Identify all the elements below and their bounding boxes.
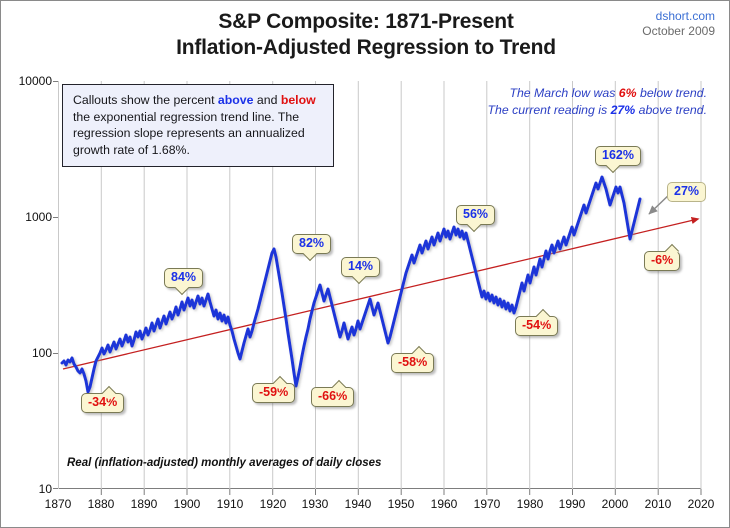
callout-84-percent: 84% <box>164 268 203 288</box>
x-axis-label-1890: 1890 <box>124 497 164 511</box>
callout-14-percent: 14% <box>341 257 380 277</box>
note1-prefix: The March low was <box>509 86 618 100</box>
x-axis-label-1900: 1900 <box>167 497 207 511</box>
infobox-text-part3: the exponential regression trend line. T… <box>73 110 305 157</box>
callout-56-percent: 56% <box>456 205 495 225</box>
x-axis-label-1920: 1920 <box>253 497 293 511</box>
callout--34-percent: -34% <box>81 393 124 413</box>
chart-footnote: Real (inflation-adjusted) monthly averag… <box>67 457 381 469</box>
chart-canvas: S&P Composite: 1871-Present Inflation-Ad… <box>0 0 730 528</box>
x-axis-label-1950: 1950 <box>381 497 421 511</box>
callout-label: -54% <box>522 318 551 332</box>
callout-label: 27% <box>674 184 699 198</box>
callout-label: -66% <box>318 389 347 403</box>
x-axis-label-2010: 2010 <box>638 497 678 511</box>
x-axis-ticks <box>101 489 701 495</box>
trend-line <box>63 219 698 369</box>
callout--66-percent: -66% <box>311 387 354 407</box>
note1-value: 6% <box>619 86 637 100</box>
note2-suffix: above trend. <box>635 103 707 117</box>
callout-label: -59% <box>259 385 288 399</box>
x-axis-label-2000: 2000 <box>595 497 635 511</box>
x-axis-label-1970: 1970 <box>467 497 507 511</box>
x-axis-label-2020: 2020 <box>681 497 721 511</box>
sp-composite-line <box>62 177 640 392</box>
summary-note-line-1: The March low was 6% below trend. <box>488 85 707 102</box>
x-axis-label-1990: 1990 <box>552 497 592 511</box>
x-axis-label-1940: 1940 <box>338 497 378 511</box>
summary-note-line-2: The current reading is 27% above trend. <box>488 102 707 119</box>
x-axis-label-1930: 1930 <box>295 497 335 511</box>
callout-label: -58% <box>398 355 427 369</box>
note1-suffix: below trend. <box>637 86 707 100</box>
description-box: Callouts show the percent above and belo… <box>62 84 334 167</box>
callout--58-percent: -58% <box>391 353 434 373</box>
callout-27-percent: 27% <box>667 182 706 202</box>
callout-label: -34% <box>88 395 117 409</box>
callout-82-percent: 82% <box>292 234 331 254</box>
x-axis-label-1870: 1870 <box>38 497 78 511</box>
infobox-word-below: below <box>281 93 316 107</box>
callout--59-percent: -59% <box>252 383 295 403</box>
callout-162-percent: 162% <box>595 146 641 166</box>
note2-value: 27% <box>611 103 636 117</box>
x-axis-label-1880: 1880 <box>81 497 121 511</box>
x-axis-label-1980: 1980 <box>510 497 550 511</box>
infobox-text-part2: and <box>253 93 280 107</box>
summary-notes: The March low was 6% below trend. The cu… <box>488 85 707 119</box>
callout--54-percent: -54% <box>515 316 558 336</box>
callout-label: 162% <box>602 148 634 162</box>
infobox-text-part1: Callouts show the percent <box>73 93 218 107</box>
x-axis-label-1910: 1910 <box>210 497 250 511</box>
note2-prefix: The current reading is <box>488 103 611 117</box>
infobox-word-above: above <box>218 93 254 107</box>
callout--6-percent: -6% <box>644 251 680 271</box>
x-axis-label-1960: 1960 <box>424 497 464 511</box>
